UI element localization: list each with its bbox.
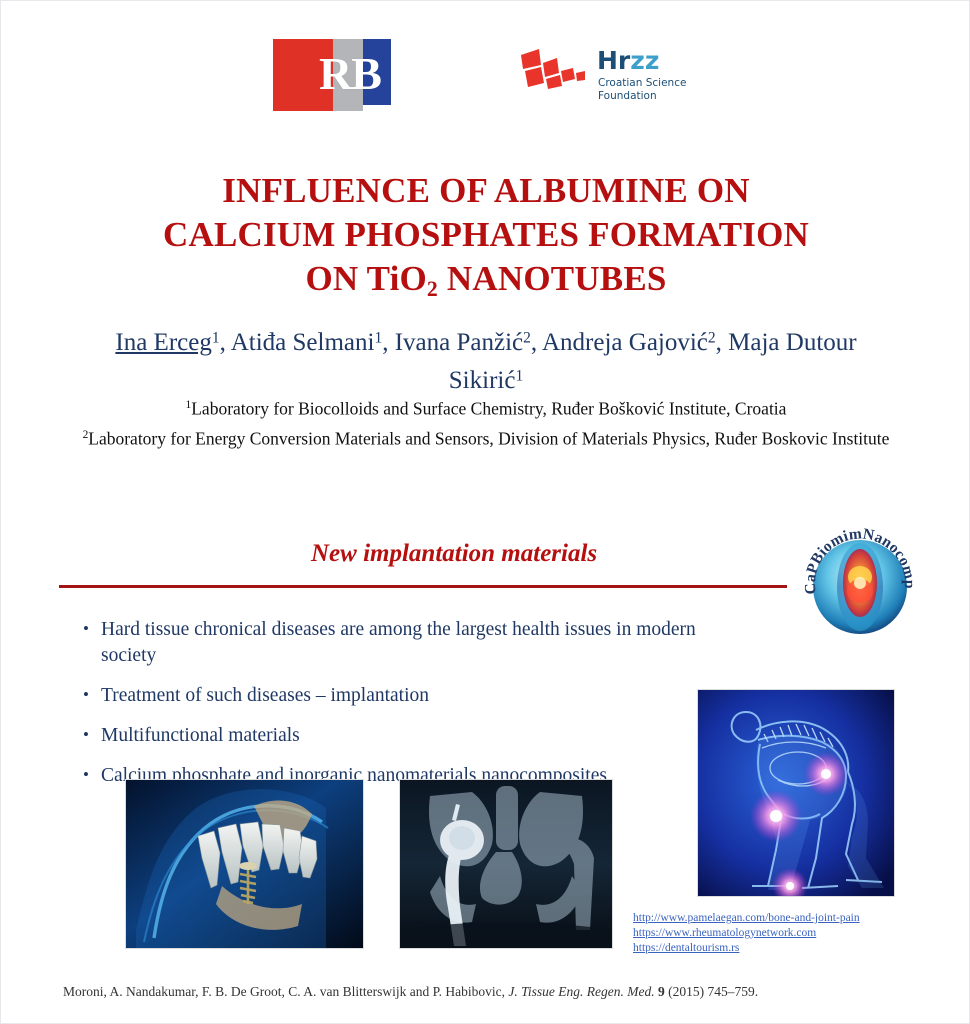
source-links: http://www.pamelaegan.com/bone-and-joint… (633, 911, 860, 956)
affiliation-1: 1Laboratory for Biocolloids and Surface … (61, 393, 911, 420)
hrzz-logo-wordmark: Hrzz (597, 47, 659, 74)
section-heading: New implantation materials (311, 539, 597, 569)
citation-volume: 9 (655, 984, 665, 999)
slide-title-line-3-pre: ON TiO (305, 259, 426, 298)
dental-implant-xray-graphic (126, 780, 363, 948)
author-2-name: Atiđa Selmani (231, 329, 375, 356)
bullet-item-3: Multifunctional materials (83, 723, 703, 749)
author-4-name: Andreja Gajović (542, 329, 708, 356)
citation-rest: (2015) 745–759. (665, 984, 758, 999)
author-sep-4: , (716, 329, 729, 356)
slide-title-subscript: 2 (427, 277, 438, 301)
dental-implant-xray-image (125, 779, 364, 949)
hrzz-word-light: zz (630, 46, 659, 75)
bullet-list: Hard tissue chronical diseases are among… (83, 617, 703, 803)
hrzz-logo-subtitle: Croatian Science Foundation (598, 77, 686, 103)
hrzz-logo-mark-icon (519, 49, 585, 93)
bullet-item-1: Hard tissue chronical diseases are among… (83, 617, 703, 669)
author-3-name: Ivana Panžić (395, 329, 523, 356)
hip-replacement-xray-image (399, 779, 613, 949)
bullet-list-ul: Hard tissue chronical diseases are among… (83, 617, 703, 789)
capbiomimnanocomp-logo: CaPBiomimNanocomp (801, 525, 919, 643)
affiliation-list: 1Laboratory for Biocolloids and Surface … (61, 393, 911, 454)
author-3-sup: 2 (523, 329, 531, 346)
author-sep-2: , (382, 329, 395, 356)
slide-title: INFLUENCE OF ALBUMINE ON CALCIUM PHOSPHA… (61, 169, 911, 311)
author-1-sup: 1 (212, 329, 220, 346)
citation-authors: Moroni, A. Nandakumar, F. B. De Groot, C… (63, 984, 508, 999)
hrzz-logo: Hrzz Croatian Science Foundation (519, 45, 709, 121)
author-4: Andreja Gajović2 (542, 329, 716, 356)
affiliation-1-text: Laboratory for Biocolloids and Surface C… (191, 398, 786, 418)
rbi-logo-letters: RB (319, 47, 381, 101)
slide-title-line-3-post: NANOTUBES (438, 259, 667, 298)
author-5-sup: 1 (515, 367, 523, 384)
author-1-name: Ina Erceg (115, 329, 211, 356)
source-link-2[interactable]: https://www.rheumatologynetwork.com (633, 926, 860, 941)
citation-journal: J. Tissue Eng. Regen. Med. (508, 984, 654, 999)
source-link-3[interactable]: https://dentaltourism.rs (633, 941, 860, 956)
slide-canvas: RB Hrzz Croatian Science Foundation INFL… (0, 0, 970, 1024)
logo-row: RB Hrzz Croatian Science Foundation (1, 35, 970, 125)
hrzz-word-dark: Hr (597, 46, 630, 75)
slide-title-line-1: INFLUENCE OF ALBUMINE ON (61, 169, 911, 213)
author-sep-1: , (220, 329, 231, 356)
rbi-logo: RB (273, 39, 391, 111)
author-1: Ina Erceg1 (115, 329, 219, 356)
joint-pain-anatomy-graphic (698, 690, 894, 896)
author-2: Atiđa Selmani1 (231, 329, 382, 356)
author-sep-3: , (531, 329, 542, 356)
bullet-item-2: Treatment of such diseases – implantatio… (83, 683, 703, 709)
author-3: Ivana Panžić2 (395, 329, 531, 356)
hip-replacement-xray-graphic (400, 780, 612, 948)
author-list: Ina Erceg1, Atiđa Selmani1, Ivana Panžić… (96, 321, 876, 397)
citation-footer: Moroni, A. Nandakumar, F. B. De Groot, C… (63, 983, 943, 1001)
joint-pain-anatomy-image (697, 689, 895, 897)
source-link-1[interactable]: http://www.pamelaegan.com/bone-and-joint… (633, 911, 860, 926)
slide-title-line-2: CALCIUM PHOSPHATES FORMATION (61, 213, 911, 257)
affiliation-2: 2Laboratory for Energy Conversion Materi… (61, 423, 911, 450)
affiliation-2-text: Laboratory for Energy Conversion Materia… (88, 429, 889, 449)
section-divider (59, 585, 787, 588)
author-4-sup: 2 (708, 329, 716, 346)
slide-title-line-3: ON TiO2 NANOTUBES (61, 257, 911, 311)
